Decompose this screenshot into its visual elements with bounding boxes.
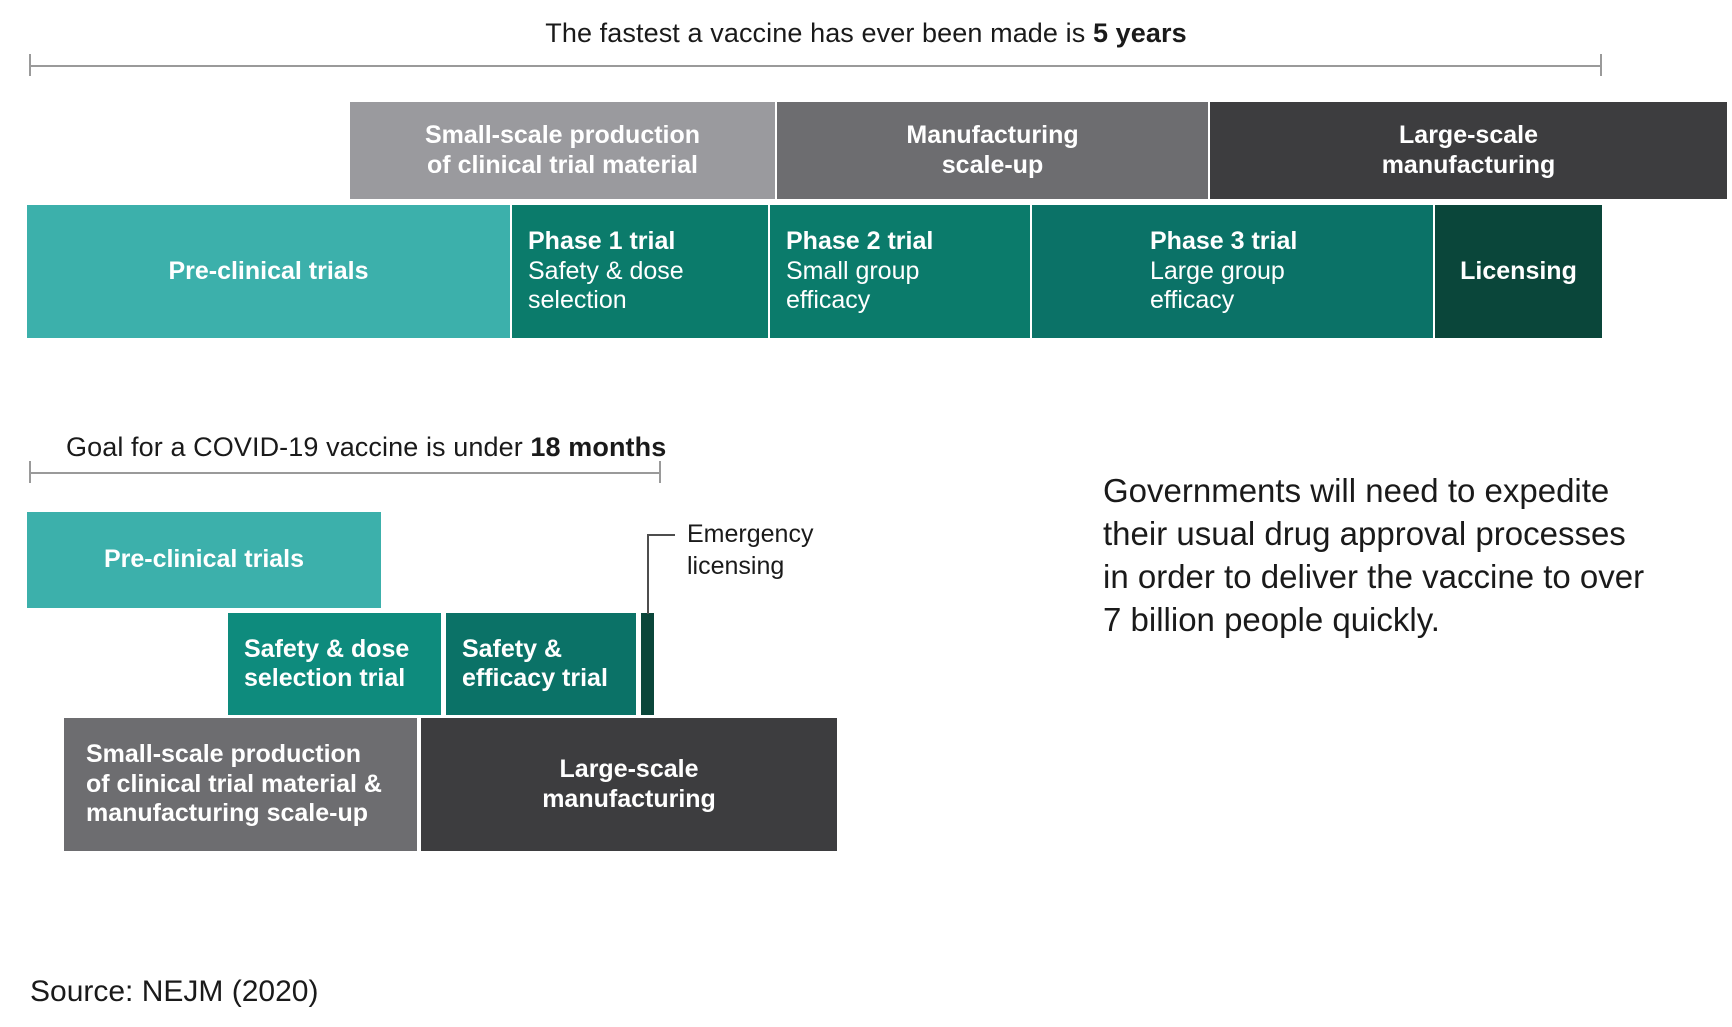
block-title: Phase 2 trial xyxy=(786,227,1014,257)
block-title: Large-scale manufacturing xyxy=(1382,121,1556,180)
bracket-line xyxy=(29,472,661,474)
block-title: Safety & dose selection trial xyxy=(244,635,425,694)
traditional-mfg-large-scale-manufacturing[interactable]: Large-scale manufacturing xyxy=(1210,102,1727,199)
infographic-canvas: The fastest a vaccine has ever been made… xyxy=(0,0,1732,1027)
traditional-trial-pre-clinical[interactable]: Pre-clinical trials xyxy=(27,205,510,338)
block-title: Small-scale production of clinical trial… xyxy=(86,740,401,829)
traditional-bracket-title-bold: 5 years xyxy=(1093,18,1187,48)
block-title: Large-scale manufacturing xyxy=(542,755,716,814)
block-subtitle: Small group efficacy xyxy=(786,257,1014,316)
block-title: Safety & efficacy trial xyxy=(462,635,620,694)
traditional-bracket-title: The fastest a vaccine has ever been made… xyxy=(0,18,1732,49)
covid-bracket-title-bold: 18 months xyxy=(530,432,666,462)
block-title: Pre-clinical trials xyxy=(104,545,304,575)
covid-trial-pre-clinical[interactable]: Pre-clinical trials xyxy=(27,512,381,608)
traditional-trial-licensing[interactable]: Licensing xyxy=(1435,205,1602,338)
covid-mfg-small-scale-production[interactable]: Small-scale production of clinical trial… xyxy=(64,718,417,851)
covid-trial-emergency-licensing[interactable] xyxy=(641,613,654,715)
covid-trial-safety-efficacy[interactable]: Safety & efficacy trial xyxy=(446,613,636,715)
covid-mfg-large-scale-manufacturing[interactable]: Large-scale manufacturing xyxy=(421,718,837,851)
bracket-line xyxy=(29,65,1602,67)
block-title: Phase 1 trial xyxy=(528,227,752,257)
bracket-cap-right xyxy=(659,461,661,483)
covid-bracket-title-prefix: Goal for a COVID-19 vaccine is under xyxy=(66,432,530,462)
traditional-mfg-manufacturing-scale-up[interactable]: Manufacturing scale-up xyxy=(777,102,1208,199)
block-title: Licensing xyxy=(1460,257,1577,287)
block-subtitle: Large group efficacy xyxy=(1150,257,1417,316)
emergency-licensing-leader-horizontal xyxy=(647,534,675,536)
block-title: Small-scale production of clinical trial… xyxy=(425,121,700,180)
covid-timeline-bracket xyxy=(29,461,661,483)
source-caption: Source: NEJM (2020) xyxy=(30,975,318,1009)
explanatory-note: Governments will need to expedite their … xyxy=(1103,470,1723,642)
bracket-cap-right xyxy=(1600,54,1602,76)
traditional-trial-phase-3[interactable]: Phase 3 trial Large group efficacy xyxy=(1032,205,1433,338)
emergency-licensing-label: Emergency licensing xyxy=(687,518,897,582)
traditional-trial-phase-1[interactable]: Phase 1 trial Safety & dose selection xyxy=(512,205,768,338)
covid-trial-safety-dose-selection[interactable]: Safety & dose selection trial xyxy=(228,613,441,715)
block-subtitle: Safety & dose selection xyxy=(528,257,752,316)
traditional-trial-phase-2[interactable]: Phase 2 trial Small group efficacy xyxy=(770,205,1030,338)
emergency-licensing-leader-vertical xyxy=(647,534,649,614)
block-title: Manufacturing scale-up xyxy=(906,121,1078,180)
covid-bracket-title: Goal for a COVID-19 vaccine is under 18 … xyxy=(66,432,666,463)
block-title: Pre-clinical trials xyxy=(168,257,368,287)
traditional-timeline-bracket xyxy=(29,54,1602,76)
block-title: Phase 3 trial xyxy=(1150,227,1417,257)
traditional-bracket-title-prefix: The fastest a vaccine has ever been made… xyxy=(545,18,1093,48)
traditional-mfg-small-scale-production[interactable]: Small-scale production of clinical trial… xyxy=(350,102,775,199)
